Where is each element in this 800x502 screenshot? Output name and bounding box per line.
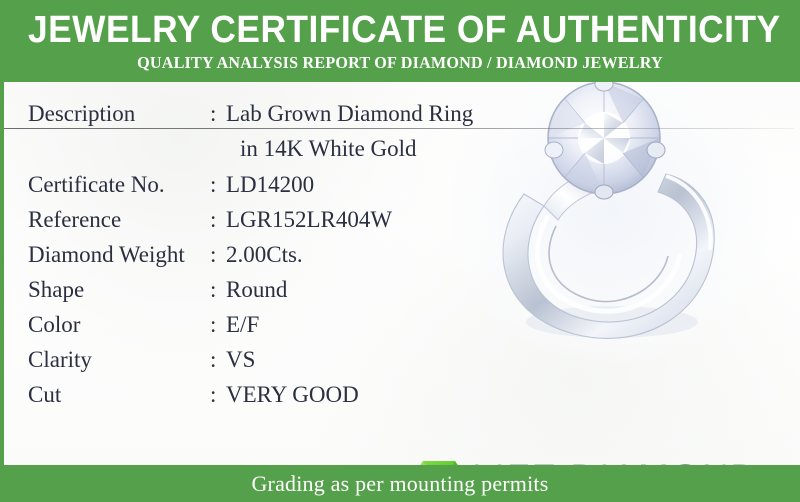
field-colon: : <box>210 346 226 374</box>
field-colon: : <box>210 276 226 304</box>
field-row-reference: Reference : LGR152LR404W <box>28 206 448 241</box>
field-value: 2.00Cts. <box>226 241 303 269</box>
certificate-title: JEWELRY CERTIFICATE OF AUTHENTICITY <box>28 0 772 50</box>
field-label: Certificate No. <box>28 171 210 199</box>
field-row-shape: Shape : Round <box>28 276 448 311</box>
field-row-certificate-no: Certificate No. : LD14200 <box>28 171 448 206</box>
footer-note-text: Grading as per mounting permits <box>251 471 548 497</box>
field-label: Cut <box>28 381 210 409</box>
ring-illustration <box>452 82 782 366</box>
field-label: Description <box>28 100 210 128</box>
field-row-description-continued: in 14K White Gold <box>28 135 448 171</box>
field-value: VERY GOOD <box>226 381 359 409</box>
green-diamond-leaf-icon <box>414 456 464 465</box>
certificate-fields: Description : Lab Grown Diamond Ring in … <box>28 100 448 416</box>
certificate-body: Description : Lab Grown Diamond Ring in … <box>0 82 800 465</box>
certificate-footer-band: Grading as per mounting permits <box>0 465 800 502</box>
field-row-diamond-weight: Diamond Weight : 2.00Cts. <box>28 241 448 276</box>
field-colon: : <box>210 241 226 269</box>
field-row-clarity: Clarity : VS <box>28 346 448 381</box>
jewelry-certificate: JEWELRY CERTIFICATE OF AUTHENTICITY QUAL… <box>0 0 800 502</box>
brand-name-text: LIFE DIAMOND <box>472 456 759 465</box>
field-row-description: Description : Lab Grown Diamond Ring <box>28 100 448 135</box>
field-value: in 14K White Gold <box>226 135 417 163</box>
field-value: Round <box>226 276 287 304</box>
field-colon: : <box>210 171 226 199</box>
field-colon: : <box>210 381 226 409</box>
field-value: Lab Grown Diamond Ring <box>226 100 473 128</box>
field-value: LD14200 <box>226 171 314 199</box>
field-value: E/F <box>226 311 259 339</box>
certificate-header-band: JEWELRY CERTIFICATE OF AUTHENTICITY QUAL… <box>0 0 800 82</box>
field-label: Color <box>28 311 210 339</box>
field-colon: : <box>210 100 226 128</box>
field-colon: : <box>210 311 226 339</box>
field-label: Reference <box>28 206 210 234</box>
diamond-ring-photo <box>452 82 782 366</box>
field-value: VS <box>226 346 255 374</box>
certificate-subtitle: QUALITY ANALYSIS REPORT OF DIAMOND / DIA… <box>20 50 780 73</box>
field-label: Diamond Weight <box>28 241 210 269</box>
left-green-edge <box>0 82 4 465</box>
brand-logo: LIFE DIAMOND give love & life <box>414 454 754 465</box>
field-label: Shape <box>28 276 210 304</box>
field-row-cut: Cut : VERY GOOD <box>28 381 448 416</box>
field-colon: : <box>210 206 226 234</box>
field-label: Clarity <box>28 346 210 374</box>
field-row-color: Color : E/F <box>28 311 448 346</box>
field-value: LGR152LR404W <box>226 206 392 234</box>
